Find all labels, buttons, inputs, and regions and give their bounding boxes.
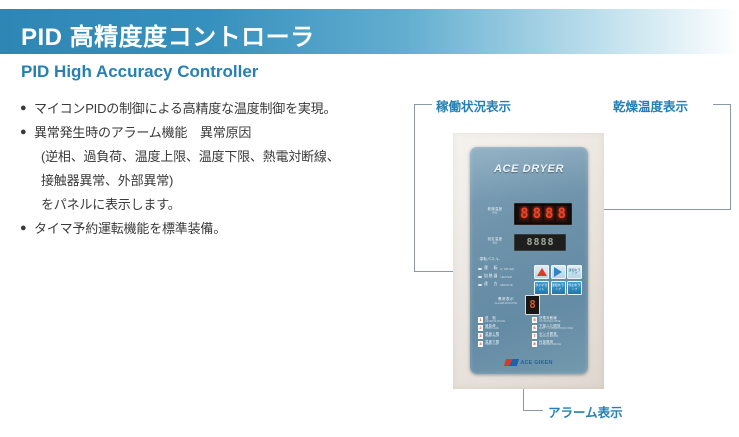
bullet-icon: ● — [20, 218, 34, 239]
leader-line-drying-temp-vertical — [730, 104, 731, 210]
alarm-heading-en: ALARM MONITOR — [486, 302, 526, 305]
triangle-right-icon — [554, 267, 562, 277]
sub-display-caption: 設定温度 SV — [482, 237, 508, 246]
seven-segment-digit: 8 — [548, 237, 554, 249]
status-label-jp: 遠 方 — [484, 282, 498, 287]
alarm-code-badge: 4 — [478, 341, 483, 347]
panel-brand-label: ACE DRYER — [470, 163, 588, 175]
list-item-text: (逆相、過負荷、温度上限、温度下限、熱電対断線、 — [34, 146, 340, 167]
alarm-legend-en: SENSOR ERROR — [539, 336, 558, 339]
alarm-code-badge: 8 — [532, 341, 537, 347]
alarm-code-badge: 6 — [532, 325, 537, 331]
alarm-legend-text: 過負荷 OVER LOAD — [485, 325, 499, 331]
advance-button[interactable] — [551, 265, 566, 279]
page-title: PID 高精度度コントローラ — [21, 17, 315, 52]
status-label-en: HEATER — [500, 275, 512, 279]
alarm-code-badge: 3 — [478, 333, 483, 339]
list-item: ● マイコンPIDの制御による高精度な温度制御を実現。 — [20, 98, 420, 119]
alarm-legend-en: TEMP. HIGH — [485, 336, 499, 339]
lamp-indicator-icon — [478, 284, 482, 286]
feature-list: ● マイコンPIDの制御による高精度な温度制御を実現。 ● 異常発生時のアラーム… — [20, 98, 420, 242]
alarm-legend-text: 熱電対断線 T/C BROKEN WIRE — [539, 317, 561, 323]
drying-temperature-display: 8 8 8 8 — [514, 203, 572, 225]
logo-wordmark: ACE GIKEN — [520, 360, 552, 366]
seven-segment-digit: 8 — [519, 206, 529, 222]
alarm-legend-item: 1 逆 相 REVERSE PHASE — [478, 317, 528, 323]
list-item: をパネルに表示します。 — [20, 194, 420, 215]
alarm-code-badge: 2 — [478, 325, 483, 331]
triangle-up-icon — [537, 268, 547, 276]
alarm-legend-item: 7 センサ異常 SENSOR ERROR — [532, 333, 582, 339]
alarm-legend-item: 2 過負荷 OVER LOAD — [478, 325, 528, 331]
status-group-heading: -運転パネル- — [478, 257, 533, 262]
list-item-text: タイマ予約運転機能を標準装備。 — [34, 218, 226, 239]
leader-line-drying-temp-stub — [713, 104, 731, 105]
main-display-caption: 乾燥温度 PV — [482, 207, 508, 216]
list-item-text: マイコンPIDの制御による高精度な温度制御を実現。 — [34, 98, 336, 119]
list-item: 接触器異常、外部異常) — [20, 170, 420, 191]
alarm-legend-en: OVER LOAD — [485, 328, 499, 331]
alarm-legend: 1 逆 相 REVERSE PHASE 5 熱電対断線 T/C BROKEN W… — [478, 317, 582, 347]
lamp-indicator-icon — [478, 268, 482, 270]
alarm-legend-text: 温度上限 TEMP. HIGH — [485, 333, 499, 339]
alarm-legend-en: EXTERNAL DEVICE — [539, 344, 561, 347]
increment-button[interactable] — [534, 265, 549, 279]
status-label-jp: 運 転 — [484, 266, 498, 271]
alarm-legend-item: 5 熱電対断線 T/C BROKEN WIRE — [532, 317, 582, 323]
alarm-legend-en: REVERSE PHASE — [485, 321, 505, 324]
status-label-en: R. DRYER — [500, 267, 514, 271]
alarm-section-heading: 異常表示 ALARM MONITOR — [486, 297, 526, 305]
list-item-text: 異常発生時のアラーム機能 異常原因 — [34, 122, 251, 143]
alarm-code-badge: 1 — [478, 317, 483, 323]
status-row: 運 転 R. DRYER — [478, 265, 533, 273]
alarm-legend-item: 8 外部異常 EXTERNAL DEVICE — [532, 341, 582, 347]
manufacturer-logo: ACE GIKEN — [470, 359, 588, 366]
mode-button[interactable]: 運転中 ランプ — [567, 265, 582, 279]
seven-segment-digit: 8 — [556, 206, 566, 222]
alarm-code-badge: 7 — [532, 333, 537, 339]
seven-segment-digit: 8 — [541, 237, 547, 249]
seven-segment-digit: 8 — [533, 237, 539, 249]
run-button[interactable]: 運転中 ランプ — [551, 281, 566, 295]
alarm-legend-item: 6 下部ふた開放 EMPTY / LOWER DOOR OPEN — [532, 325, 582, 331]
set-temperature-display: 8 8 8 8 — [514, 234, 566, 251]
status-row: 遠 方 REMOTE — [478, 281, 533, 289]
leader-line-alarm-pointer — [523, 410, 543, 411]
status-lamp-group: -運転パネル- 運 転 R. DRYER 加熱器 HEATER 遠 方 REMO… — [478, 257, 533, 289]
list-item: ● 異常発生時のアラーム機能 異常原因 — [20, 122, 420, 143]
bullet-icon: ● — [20, 98, 34, 119]
lamp-indicator-icon — [478, 276, 482, 278]
alarm-legend-text: センサ異常 SENSOR ERROR — [539, 333, 558, 339]
seven-segment-digit: 8 — [544, 206, 554, 222]
alarm-legend-item: 3 温度上限 TEMP. HIGH — [478, 333, 528, 339]
status-label-en: REMOTE — [500, 283, 512, 287]
logo-mark-icon — [504, 359, 519, 366]
leader-line-operating-status-stub — [414, 104, 432, 105]
sub-display-caption-en: SV — [482, 241, 508, 245]
callout-drying-temperature: 乾燥温度表示 — [613, 96, 688, 115]
controller-panel: ACE DRYER 乾燥温度 PV 8 8 8 8 設定温度 SV 8 8 8 … — [470, 147, 588, 374]
page-subtitle: PID High Accuracy Controller — [21, 62, 258, 82]
alarm-legend-en: EMPTY / LOWER DOOR OPEN — [539, 328, 573, 331]
alarm-legend-text: 逆 相 REVERSE PHASE — [485, 317, 505, 323]
timer-set-button[interactable]: タイマ セット — [534, 281, 549, 295]
alarm-legend-item: 4 温度下限 TEMP. LOW — [478, 341, 528, 347]
list-item-text: 接触器異常、外部異常) — [34, 170, 173, 191]
bullet-icon: ● — [20, 122, 34, 143]
alarm-code-badge: 5 — [532, 317, 537, 323]
alarm-legend-en: TEMP. LOW — [485, 344, 499, 347]
alarm-legend-text: 外部異常 EXTERNAL DEVICE — [539, 341, 561, 347]
leader-line-operating-status-vertical — [414, 104, 415, 272]
main-display-caption-en: PV — [482, 211, 508, 215]
alarm-legend-text: 温度下限 TEMP. LOW — [485, 341, 499, 347]
list-item: (逆相、過負荷、温度上限、温度下限、熱電対断線、 — [20, 146, 420, 167]
control-button-grid: 運転中 ランプ タイマ セット 運転中 ランプ 停止中 ランプ — [534, 265, 582, 295]
list-item-text: をパネルに表示します。 — [34, 194, 181, 215]
alarm-legend-text: 下部ふた開放 EMPTY / LOWER DOOR OPEN — [539, 325, 573, 331]
callout-alarm-display: アラーム表示 — [548, 402, 623, 421]
alarm-legend-en: T/C BROKEN WIRE — [539, 321, 561, 324]
status-label-jp: 加熱器 — [484, 274, 498, 279]
product-photo: ACE DRYER 乾燥温度 PV 8 8 8 8 設定温度 SV 8 8 8 … — [453, 133, 604, 389]
list-item: ● タイマ予約運転機能を標準装備。 — [20, 218, 420, 239]
seven-segment-digit: 8 — [526, 237, 532, 249]
header-banner: PID 高精度度コントローラ — [0, 9, 739, 54]
panel-glare — [470, 147, 588, 205]
alarm-code-display: 8 — [525, 295, 540, 315]
callout-operating-status: 稼働状況表示 — [436, 96, 511, 115]
seven-segment-digit: 8 — [532, 206, 542, 222]
seven-segment-digit: 8 — [529, 299, 536, 311]
status-row: 加熱器 HEATER — [478, 273, 533, 281]
stop-button[interactable]: 停止中 ランプ — [567, 281, 582, 295]
